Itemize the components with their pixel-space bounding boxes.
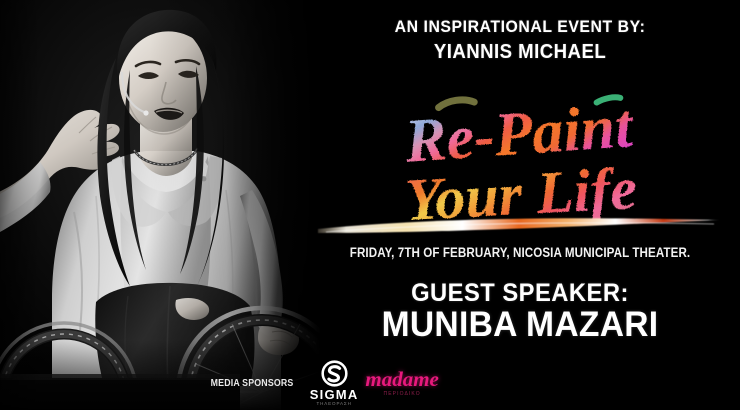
sigma-circle-s-icon: [321, 360, 348, 387]
sponsor-logo-sigma: SIGMA TΗΛΕΟΡΑΣΗ: [308, 360, 360, 407]
media-sponsors-caption: MEDIA SPONSORS: [211, 378, 294, 389]
guest-speaker-label: GUEST SPEAKER:: [311, 279, 729, 308]
event-poster: AN INSPIRATIONAL EVENT BY: YIANNIS MICHA…: [0, 0, 740, 410]
guest-speaker-name: MUNIBA MAZARI: [309, 305, 731, 345]
speaker-photo-illustration: [0, 0, 320, 410]
event-header-line1: AN INSPIRATIONAL EVENT BY:: [315, 16, 724, 37]
sponsor-logo-madame: madame ΠΕΡΙΟΔΙΚΟ: [369, 369, 435, 397]
event-dateline: FRIDAY, 7TH OF FEBRUARY, NICOSIA MUNICIP…: [331, 245, 709, 260]
event-header-line2: YIANNIS MICHAEL: [315, 39, 724, 65]
madame-wordmark: madame: [365, 369, 439, 390]
sigma-wordmark: SIGMA: [310, 388, 359, 401]
event-header: AN INSPIRATIONAL EVENT BY: YIANNIS MICHA…: [300, 16, 740, 65]
poster-content: AN INSPIRATIONAL EVENT BY: YIANNIS MICHA…: [300, 0, 740, 410]
poster-title: Re-Paint Your Life: [300, 86, 740, 236]
speaker-photo: [0, 0, 320, 410]
sigma-subtext: TΗΛΕΟΡΑΣΗ: [316, 402, 351, 407]
media-sponsors: MEDIA SPONSORS SIGMA TΗΛΕΟΡΑΣΗ madame ΠΕ…: [205, 358, 440, 408]
title-brushstroke: [318, 218, 720, 233]
madame-subtext: ΠΕΡΙΟΔΙΚΟ: [384, 392, 421, 397]
poster-title-artwork: Re-Paint Your Life: [300, 86, 740, 236]
